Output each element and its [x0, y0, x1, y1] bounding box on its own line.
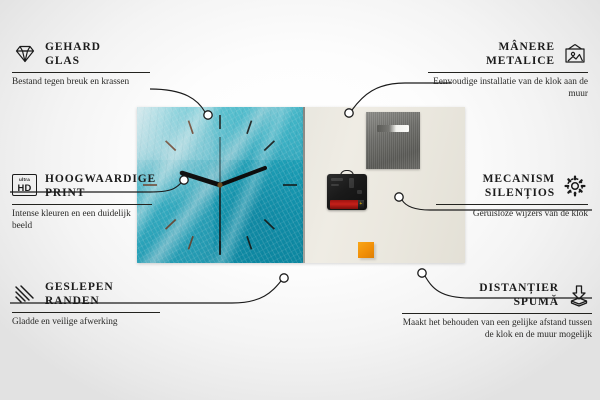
beveled-edges-icon — [12, 282, 38, 306]
feature-title: MECANISM SILENȚIOS — [483, 172, 555, 200]
quartz-mechanism: + — [327, 170, 367, 210]
feature-title: HOOGWAARDIGE PRINT — [45, 172, 156, 200]
feature-header: GESLEPEN RANDEN — [12, 280, 170, 308]
feature-divider — [12, 312, 160, 313]
feature-description: Bestand tegen breuk en krassen — [12, 77, 132, 89]
feature-divider — [12, 204, 152, 205]
feature-gehard-glas: GEHARD GLAS Bestand tegen breuk en krass… — [12, 40, 160, 89]
feature-divider — [436, 204, 588, 205]
mechanism-body: + — [327, 174, 367, 210]
feature-header: MECANISM SILENȚIOS — [436, 172, 588, 200]
feature-description: Geruisloze wijzers van de klok — [436, 209, 588, 221]
feature-geslepen-randen: GESLEPEN RANDEN Gladde en veilige afwerk… — [12, 280, 170, 329]
feature-header: ultra HD HOOGWAARDIGE PRINT — [12, 172, 164, 200]
feature-header: DISTANȚIER SPUMĂ — [402, 281, 592, 309]
foam-spacer — [358, 242, 374, 258]
battery: + — [330, 200, 364, 209]
feature-title: GEHARD GLAS — [45, 40, 101, 68]
wall-hanger-icon — [562, 42, 588, 66]
mechanism-marking — [349, 178, 354, 188]
clock-hands — [182, 137, 265, 254]
diamond-icon — [12, 42, 38, 66]
feature-title: GESLEPEN RANDEN — [45, 280, 114, 308]
feature-mecanism-silentios: MECANISM SILENȚIOS Geruisloze wijzers va… — [436, 172, 588, 221]
feature-manere-metalice: MÂNERE METALICE Eenvoudige installatie v… — [428, 40, 588, 100]
connector-endpoint-distantier-spuma — [418, 269, 426, 277]
gear-icon — [562, 174, 588, 198]
spacer-arrow-icon — [566, 283, 592, 307]
feature-divider — [428, 72, 588, 73]
feature-title: DISTANȚIER SPUMĂ — [479, 281, 559, 309]
feature-distantier-spuma: DISTANȚIER SPUMĂ Maakt het behouden van … — [402, 281, 592, 341]
feature-description: Eenvoudige installatie van de klok aan d… — [428, 77, 588, 100]
connector-endpoint-geslepen-randen — [280, 274, 288, 282]
feature-divider — [402, 313, 592, 314]
feature-description: Intense kleuren en een duidelijk beeld — [12, 209, 134, 232]
feature-description: Maakt het behouden van een gelijke afsta… — [402, 318, 592, 341]
ultra-hd-icon: ultra HD — [12, 174, 38, 198]
ultra-hd-large-label: HD — [18, 183, 32, 192]
feature-divider — [12, 72, 150, 73]
mechanism-marking — [331, 184, 339, 186]
feature-header: GEHARD GLAS — [12, 40, 160, 68]
panel-edge — [303, 107, 305, 263]
battery-plus-label: + — [359, 202, 363, 206]
feature-header: MÂNERE METALICE — [428, 40, 588, 68]
feature-hoogwaardige-print: ultra HD HOOGWAARDIGE PRINT Intense kleu… — [12, 172, 164, 232]
feature-description: Gladde en veilige afwerking — [12, 317, 160, 329]
hanger-slot — [377, 125, 409, 132]
metal-hanger-plate — [366, 112, 420, 169]
mechanism-marking — [331, 178, 343, 181]
mechanism-marking — [357, 190, 362, 194]
product-image: + — [137, 107, 465, 263]
feature-title: MÂNERE METALICE — [486, 40, 555, 68]
